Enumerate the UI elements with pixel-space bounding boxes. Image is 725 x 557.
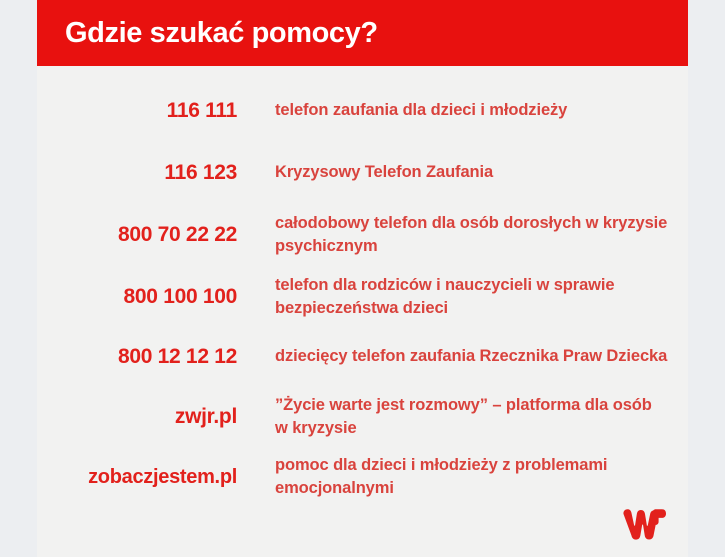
helpline-row: 800 12 12 12 dziecięcy telefon zaufania … [37, 328, 688, 386]
helpline-number[interactable]: 800 100 100 [37, 285, 237, 308]
description-line: psychicznym [275, 235, 682, 258]
helpline-number[interactable]: 116 111 [37, 99, 237, 122]
helpline-number[interactable]: 800 12 12 12 [37, 345, 237, 368]
helpline-row: 116 111 telefon zaufania dla dzieci i mł… [37, 80, 688, 142]
infographic-root: Gdzie szukać pomocy? 116 111 telefon zau… [0, 0, 725, 557]
page-title: Gdzie szukać pomocy? [65, 17, 378, 50]
helpline-description: całodobowy telefon dla osób dorosłych w … [237, 212, 682, 259]
helpline-description: Kryzysowy Telefon Zaufania [237, 161, 682, 184]
helpline-row: 800 100 100 telefon dla rodziców i naucz… [37, 266, 688, 328]
header-bar: Gdzie szukać pomocy? [37, 0, 688, 66]
helpline-description: ”Życie warte jest rozmowy” – platforma d… [237, 394, 682, 441]
description-line: Kryzysowy Telefon Zaufania [275, 161, 682, 184]
description-line: telefon dla rodziców i nauczycieli w spr… [275, 274, 682, 297]
description-line: bezpieczeństwa dzieci [275, 297, 682, 320]
helpline-number[interactable]: 800 70 22 22 [37, 223, 237, 246]
helpline-description: dziecięcy telefon zaufania Rzecznika Pra… [237, 345, 682, 368]
description-line: w kryzysie [275, 417, 682, 440]
helpline-row: zwjr.pl ”Życie warte jest rozmowy” – pla… [37, 386, 688, 448]
description-line: telefon zaufania dla dzieci i młodzieży [275, 99, 682, 122]
helpline-number[interactable]: 116 123 [37, 161, 237, 184]
wp-logo-icon [622, 508, 666, 542]
helpline-row: zobaczjestem.pl pomoc dla dzieci i młodz… [37, 448, 688, 506]
helpline-description: telefon zaufania dla dzieci i młodzieży [237, 99, 682, 122]
description-line: dziecięcy telefon zaufania Rzecznika Pra… [275, 345, 682, 368]
helpline-description: telefon dla rodziców i nauczycieli w spr… [237, 274, 682, 321]
helpline-row: 800 70 22 22 całodobowy telefon dla osób… [37, 204, 688, 266]
description-line: pomoc dla dzieci i młodzieży z problemam… [275, 454, 682, 477]
description-line: ”Życie warte jest rozmowy” – platforma d… [275, 394, 682, 417]
description-line: całodobowy telefon dla osób dorosłych w … [275, 212, 682, 235]
helpline-description: pomoc dla dzieci i młodzieży z problemam… [237, 454, 682, 501]
helpline-row: 116 123 Kryzysowy Telefon Zaufania [37, 142, 688, 204]
helpline-website[interactable]: zwjr.pl [37, 405, 237, 428]
helpline-list: 116 111 telefon zaufania dla dzieci i mł… [37, 66, 688, 506]
description-line: emocjonalnymi [275, 477, 682, 500]
helpline-website[interactable]: zobaczjestem.pl [37, 466, 237, 488]
